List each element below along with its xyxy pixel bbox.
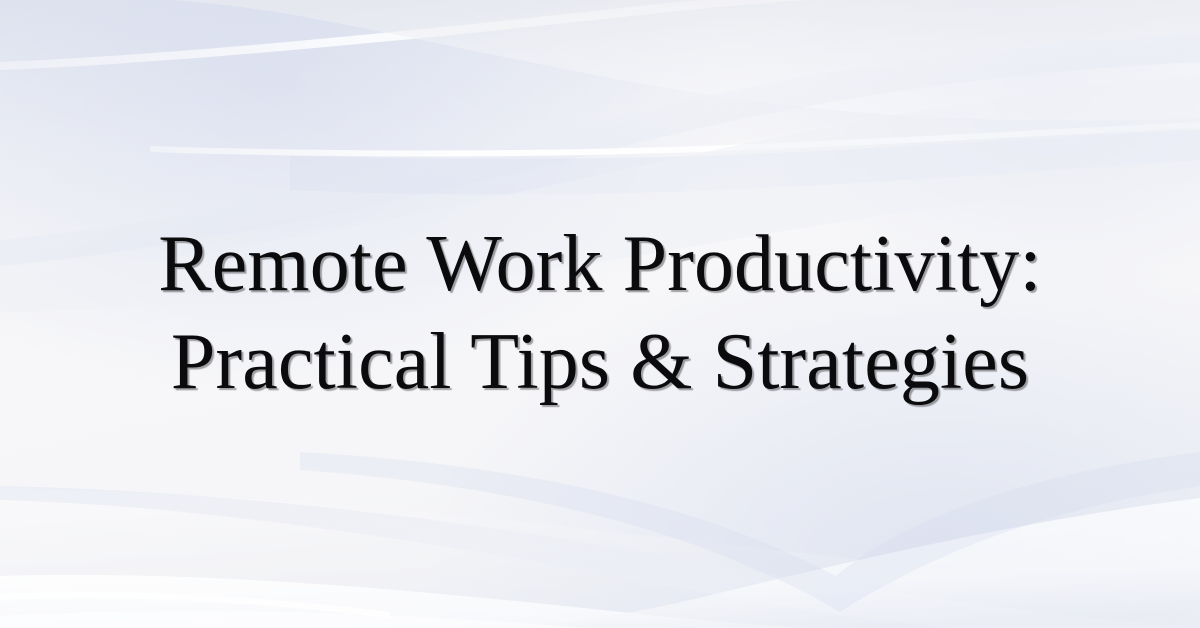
page-title: Remote Work Productivity: Practical Tips… (158, 216, 1041, 411)
og-card: Remote Work Productivity: Practical Tips… (0, 0, 1200, 628)
page-title-line-2: Practical Tips & Strategies (158, 314, 1041, 412)
page-title-line-1: Remote Work Productivity: (158, 216, 1041, 314)
headline-container: Remote Work Productivity: Practical Tips… (0, 0, 1200, 628)
